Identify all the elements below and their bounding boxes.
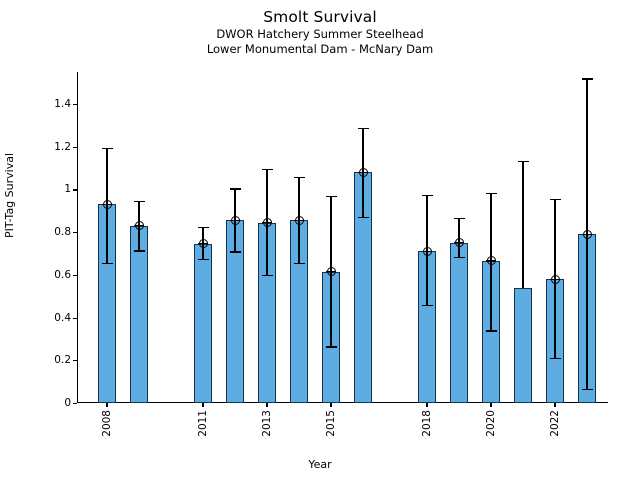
y-tick-mark [73, 189, 77, 190]
point-marker [199, 239, 208, 248]
y-tick-mark [73, 360, 77, 361]
error-bar-cap-upper [454, 218, 465, 219]
point-marker [455, 238, 464, 247]
bar [450, 243, 468, 403]
x-tick-label: 2008 [101, 410, 113, 437]
error-bar-cap-upper [294, 177, 305, 178]
y-tick-mark [73, 104, 77, 105]
error-bar-cap-lower [582, 389, 593, 390]
error-bar-cap-lower [294, 263, 305, 264]
bar [194, 244, 212, 403]
bar [130, 226, 148, 403]
y-axis-label: PIT-Tag Survival [3, 153, 16, 238]
chart-subtitle-1: DWOR Hatchery Summer Steelhead [0, 27, 640, 42]
point-marker [135, 221, 144, 230]
y-tick-label: 1.2 [54, 141, 71, 153]
error-bar-cap-upper [326, 196, 337, 197]
y-tick-label: 0.2 [54, 354, 71, 366]
error-bar-cap-upper [358, 128, 369, 129]
bar [514, 288, 532, 403]
error-bar-cap-lower [230, 251, 241, 252]
point-marker [327, 267, 336, 276]
point-marker [423, 247, 432, 256]
y-tick-label: 1.4 [54, 98, 71, 110]
chart-title-block: Smolt Survival DWOR Hatchery Summer Stee… [0, 8, 640, 57]
point-marker [583, 230, 592, 239]
x-tick-mark [330, 403, 331, 407]
y-tick-label: 0.8 [54, 226, 71, 238]
y-tick-label: 0.6 [54, 269, 71, 281]
point-marker [231, 216, 240, 225]
y-tick-label: 0.4 [54, 312, 71, 324]
x-tick-label: 2022 [549, 410, 561, 437]
y-tick-mark [73, 147, 77, 148]
error-bar-cap-lower [326, 346, 337, 347]
point-marker [551, 275, 560, 284]
error-bar-cap-upper [230, 188, 241, 189]
point-marker [295, 216, 304, 225]
y-axis-spine [77, 72, 78, 403]
x-tick-mark [106, 403, 107, 407]
plot-area: 00.20.40.60.811.21.4 2008201120132015201… [77, 72, 608, 403]
point-marker [263, 218, 272, 227]
chart-subtitle-2: Lower Monumental Dam - McNary Dam [0, 42, 640, 57]
point-marker [359, 168, 368, 177]
error-bar-cap-upper [486, 193, 497, 194]
x-tick-label: 2015 [325, 410, 337, 437]
x-tick-mark [266, 403, 267, 407]
chart-figure: Smolt Survival DWOR Hatchery Summer Stee… [0, 0, 640, 480]
error-bar-cap-lower [550, 358, 561, 359]
y-tick-mark [73, 403, 77, 404]
x-axis-label: Year [0, 458, 640, 471]
error-bar-cap-upper [262, 169, 273, 170]
error-bar-cap-lower [134, 250, 145, 251]
error-bar-cap-lower [102, 263, 113, 264]
error-bar-cap-lower [422, 305, 433, 306]
error-bar-cap-upper [198, 227, 209, 228]
error-bar-cap-lower [454, 257, 465, 258]
error-bar-cap-lower [262, 275, 273, 276]
error-bar-cap-upper [582, 78, 593, 79]
error-bar-cap-upper [102, 148, 113, 149]
x-tick-label: 2011 [197, 410, 209, 437]
y-tick-mark [73, 232, 77, 233]
y-tick-label: 1 [64, 183, 71, 195]
x-tick-mark [554, 403, 555, 407]
error-bar [522, 161, 523, 288]
error-bar-cap-upper [134, 201, 145, 202]
page-title: Smolt Survival [0, 8, 640, 27]
point-marker [103, 200, 112, 209]
y-tick-label: 0 [64, 397, 71, 409]
point-marker [487, 256, 496, 265]
x-tick-mark [202, 403, 203, 407]
x-tick-mark [426, 403, 427, 407]
error-bar-cap-upper [422, 195, 433, 196]
y-tick-mark [73, 275, 77, 276]
x-tick-mark [490, 403, 491, 407]
error-bar-cap-upper [550, 199, 561, 200]
x-tick-label: 2018 [421, 410, 433, 437]
error-bar-cap-lower [358, 217, 369, 218]
y-tick-mark [73, 318, 77, 319]
x-tick-label: 2013 [261, 410, 273, 437]
error-bar-cap-upper [518, 161, 529, 162]
error-bar-cap-lower [486, 330, 497, 331]
x-tick-label: 2020 [485, 410, 497, 437]
error-bar-cap-lower [198, 259, 209, 260]
